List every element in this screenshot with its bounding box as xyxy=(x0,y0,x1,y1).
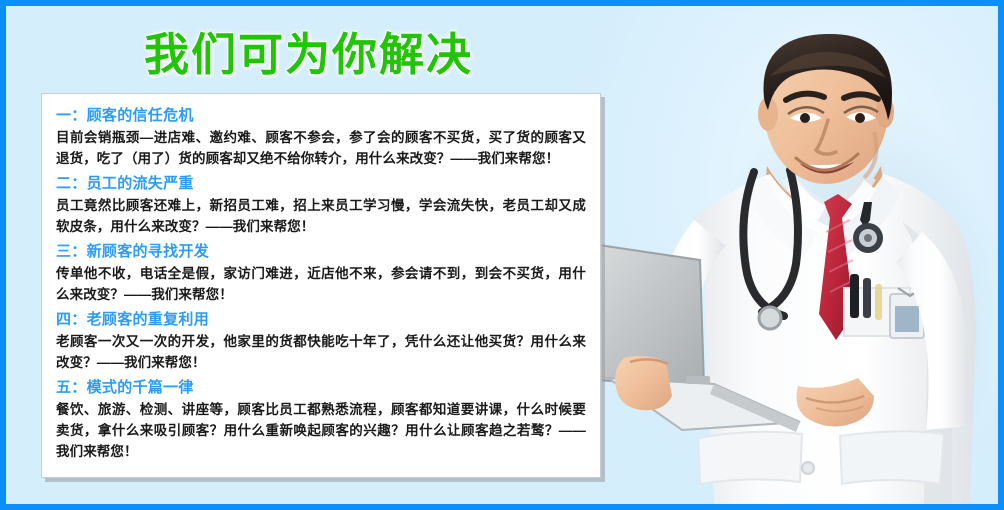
section-body: 传单他不收，电话全是假，家访门难进，近店他不来，参会请不到，到会不买货，用什么来… xyxy=(56,263,586,305)
page-title: 我们可为你解决 xyxy=(144,32,473,77)
problem-section-2: 二：员工的流失严重 员工竟然比顾客还难上，新招员工难，招上来员工学习慢，学会流失… xyxy=(56,173,586,237)
section-heading: 一：顾客的信任危机 xyxy=(56,105,586,126)
problem-section-1: 一：顾客的信任危机 目前会销瓶颈—进店难、邀约难、顾客不参会，参了会的顾客不买货… xyxy=(56,105,586,169)
section-body: 目前会销瓶颈—进店难、邀约难、顾客不参会，参了会的顾客不买货，买了货的顾客又退货… xyxy=(56,127,586,169)
background-glow xyxy=(578,6,998,504)
section-heading: 二：员工的流失严重 xyxy=(56,173,586,194)
problem-section-3: 三：新顾客的寻找开发 传单他不收，电话全是假，家访门难进，近店他不来，参会请不到… xyxy=(56,241,586,305)
section-body: 员工竟然比顾客还难上，新招员工难，招上来员工学习慢，学会流失快，老员工却又成软皮… xyxy=(56,195,586,237)
promotional-banner: 我们可为你解决 一：顾客的信任危机 目前会销瓶颈—进店难、邀约难、顾客不参会，参… xyxy=(0,0,1004,510)
section-body: 餐饮、旅游、检测、讲座等，顾客比员工都熟悉流程，顾客都知道要讲课，什么时候要卖货… xyxy=(56,399,586,462)
problem-list-card: 一：顾客的信任危机 目前会销瓶颈—进店难、邀约难、顾客不参会，参了会的顾客不买货… xyxy=(41,93,601,478)
section-heading: 四：老顾客的重复利用 xyxy=(56,309,586,330)
problem-section-4: 四：老顾客的重复利用 老顾客一次又一次的开发，他家里的货都快能吃十年了，凭什么还… xyxy=(56,309,586,373)
section-body: 老顾客一次又一次的开发，他家里的货都快能吃十年了，凭什么还让他买货？用什么来改变… xyxy=(56,331,586,373)
doctor-with-laptop-photo xyxy=(602,6,1002,504)
problem-section-5: 五：模式的千篇一律 餐饮、旅游、检测、讲座等，顾客比员工都熟悉流程，顾客都知道要… xyxy=(56,377,586,462)
section-heading: 五：模式的千篇一律 xyxy=(56,377,586,398)
section-heading: 三：新顾客的寻找开发 xyxy=(56,241,586,262)
